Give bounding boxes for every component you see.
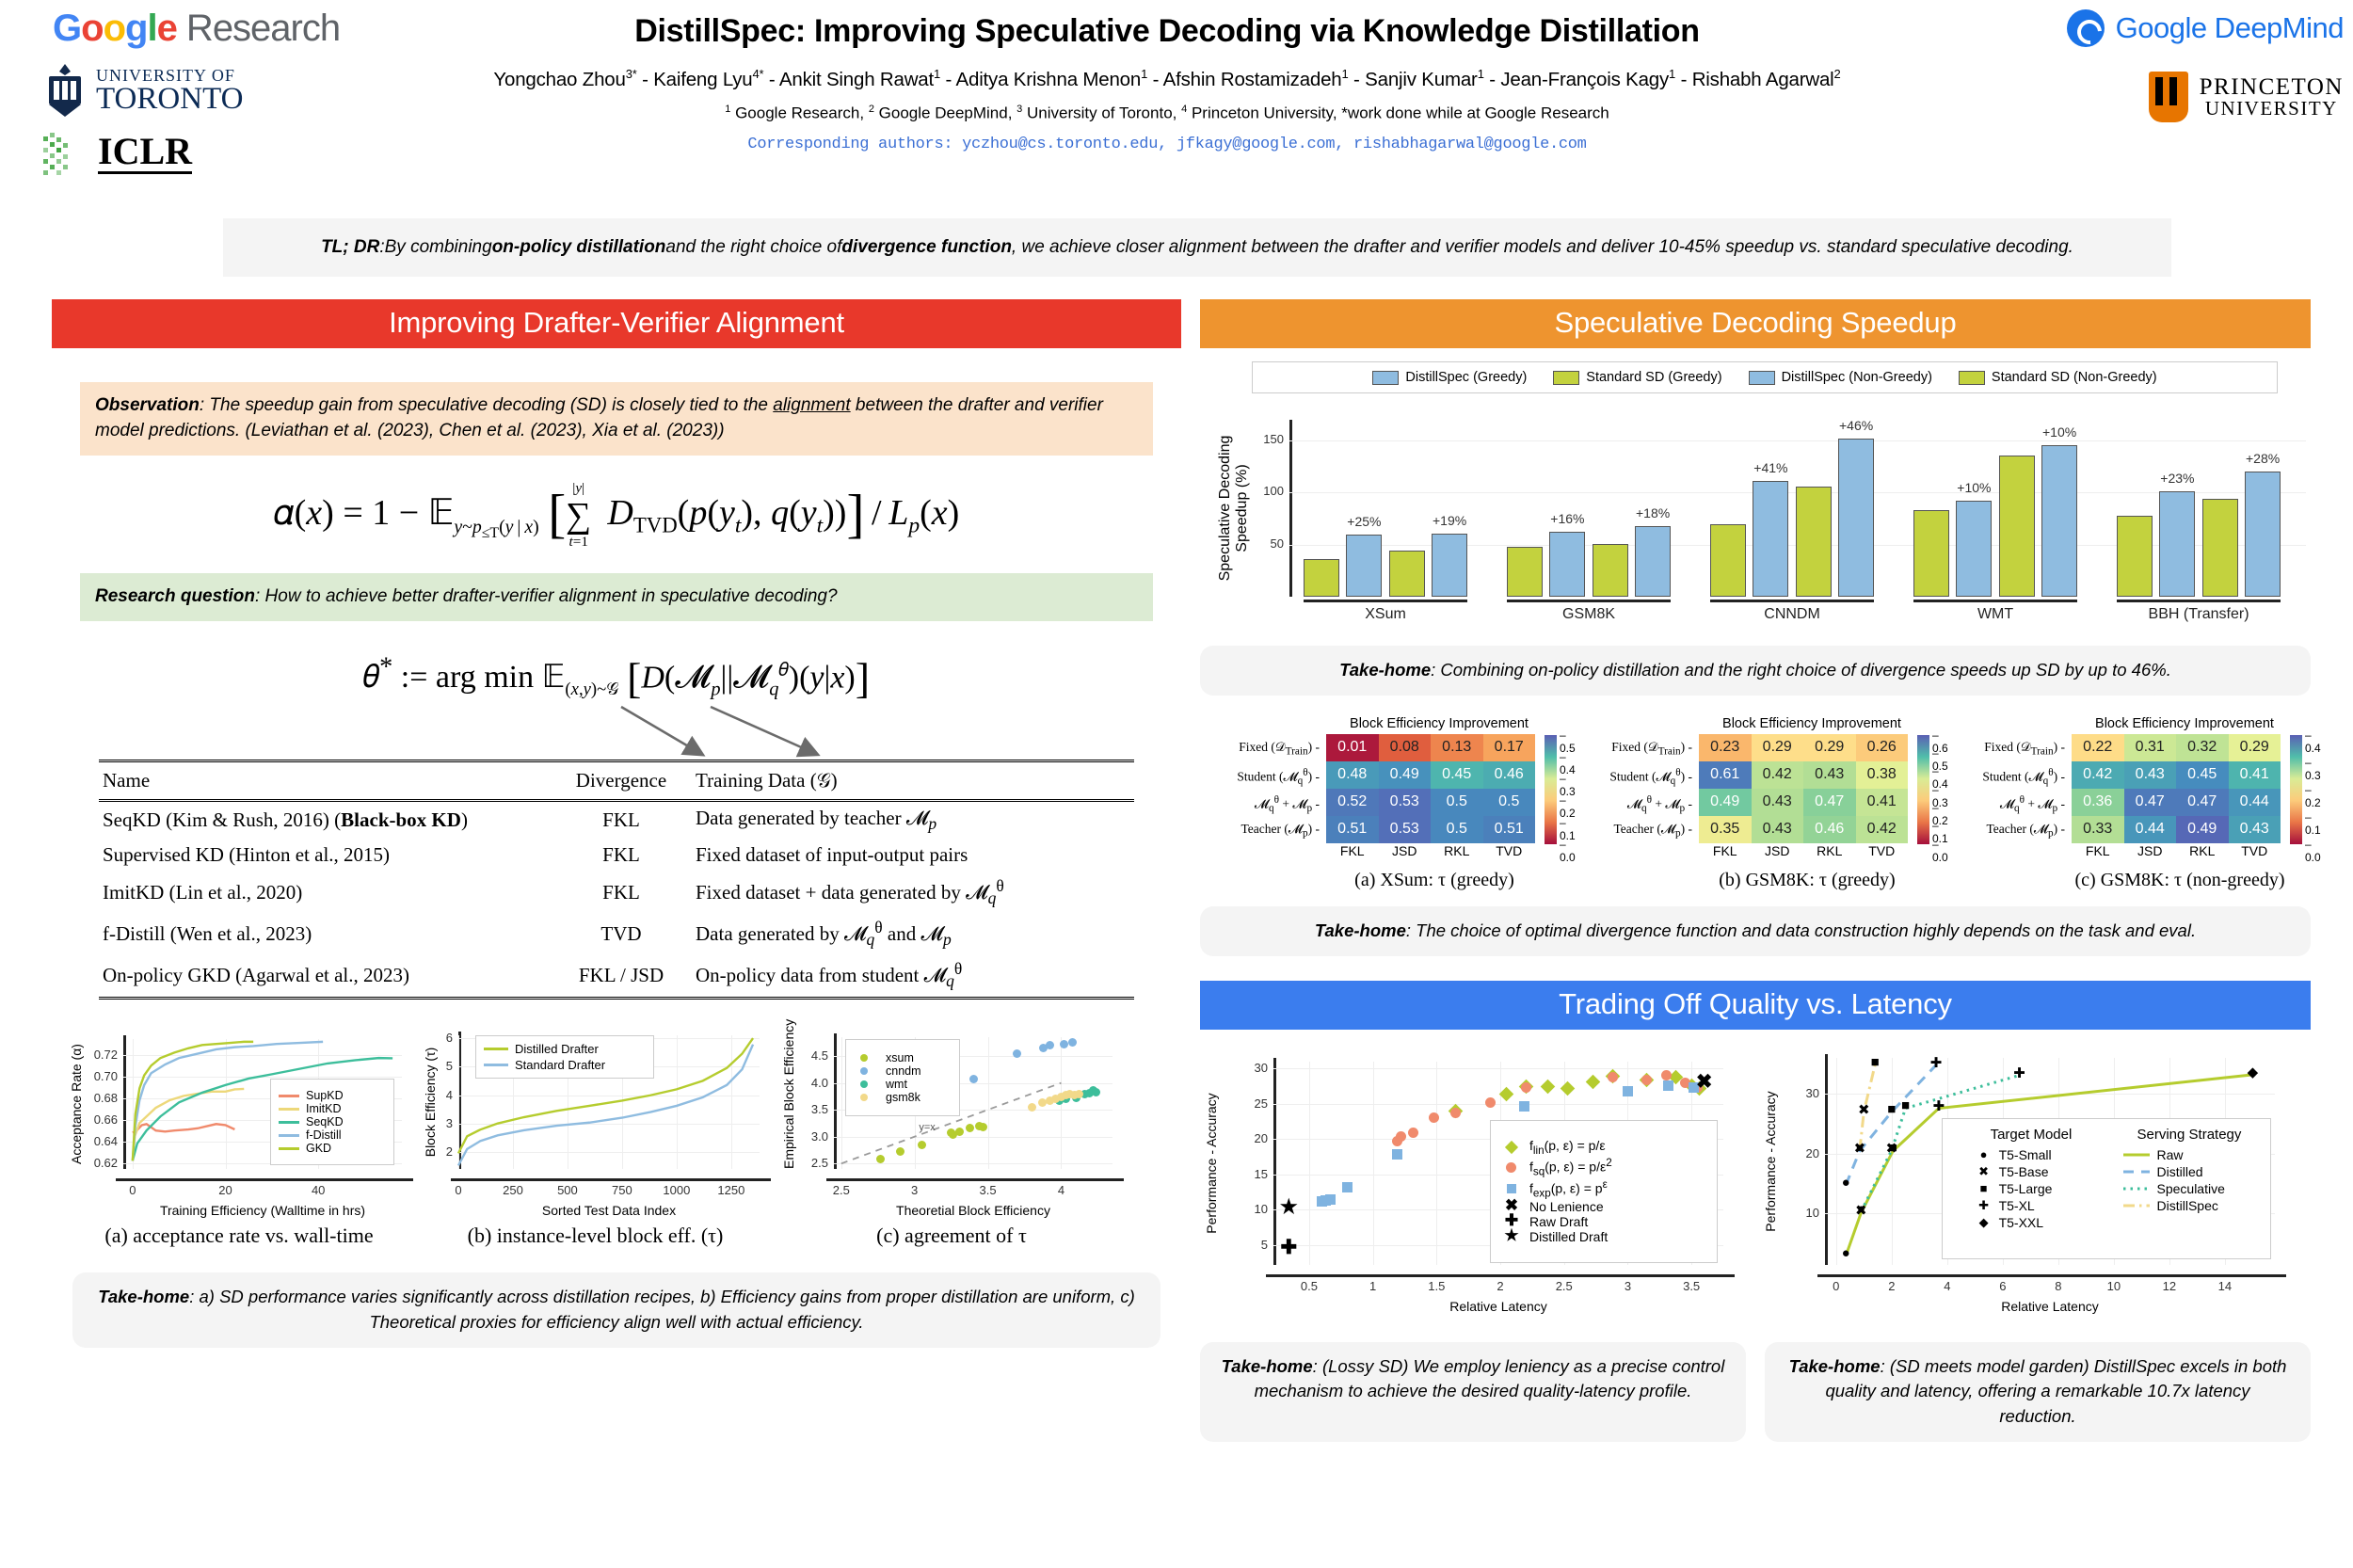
category-rule xyxy=(1913,600,2077,602)
colorbar-tick: – 0.3 xyxy=(2305,756,2326,782)
heatmap-col-label: FKL xyxy=(2072,843,2124,858)
y-tick: 15 xyxy=(1230,1167,1268,1181)
gridline xyxy=(1309,1062,1310,1265)
bar-1-0 xyxy=(1507,547,1543,597)
legend-item-1: Standard SD (Greedy) xyxy=(1553,370,1721,385)
legend-item-strategy-1: Distilled xyxy=(2122,1164,2238,1179)
heatmap-cell: 0.46 xyxy=(1803,816,1856,843)
data-point xyxy=(979,1123,987,1131)
gridline xyxy=(1273,1068,1723,1069)
legend-item-2: DistillSpec (Non-Greedy) xyxy=(1749,370,1932,385)
data-point: ● xyxy=(1852,1201,1869,1217)
legend-label: T5-XL xyxy=(1999,1198,2035,1213)
legend-marker xyxy=(1500,1141,1523,1154)
x-tick: 0.5 xyxy=(1285,1279,1334,1293)
heatmap-row-label: 𝓜qθ + 𝓜p - xyxy=(2000,794,2072,814)
data-point xyxy=(1075,1090,1083,1098)
legend-swatch xyxy=(1749,371,1775,385)
right-column: Speculative Decoding Speedup DistillSpec… xyxy=(1200,299,2311,1442)
observation-callout: Observation: The speedup gain from specu… xyxy=(80,382,1153,456)
tradeoff-charts-row: 510152025300.511.522.533.5Relative Laten… xyxy=(1200,1047,2311,1329)
cell-name: f-Distill (Wen et al., 2023) xyxy=(99,913,551,954)
heatmap-cell: 0.01 xyxy=(1326,734,1379,761)
heatmap-cell: 0.08 xyxy=(1379,734,1432,761)
colorbar-tick: – 0.0 xyxy=(1932,838,1953,864)
legend-label: cnndm xyxy=(886,1064,921,1078)
bar-2-1 xyxy=(1753,481,1788,597)
research-question-callout: Research question: How to achieve better… xyxy=(80,573,1153,621)
colorbar-tick: – 0.0 xyxy=(2305,838,2326,864)
heatmap-cell: 0.31 xyxy=(2124,734,2177,761)
category-rule xyxy=(1304,600,1467,602)
data-point xyxy=(969,1075,978,1083)
data-point xyxy=(1060,1040,1068,1048)
heatmap-cell: 0.49 xyxy=(1379,761,1432,789)
bar-3-3 xyxy=(2041,445,2077,597)
heatmap-col-label: TVD xyxy=(1856,843,1909,858)
tldr-banner: TL; DR: By combining on-policy distillat… xyxy=(223,218,2171,277)
heatmap-title: Block Efficiency Improvement xyxy=(1298,716,1580,731)
legend-label: SeqKD xyxy=(306,1115,344,1128)
cell-divergence: TVD xyxy=(551,913,692,954)
heatmap-cell: 0.22 xyxy=(2072,734,2124,761)
heatmap-cell: 0.42 xyxy=(1856,816,1909,843)
heatmap-cell: 0.29 xyxy=(1752,734,1804,761)
legend-item-0: Distilled Drafter xyxy=(484,1042,599,1056)
left-charts-row: 0.620.640.660.680.700.7202040Training Ef… xyxy=(52,1028,1181,1248)
table-row: Supervised KD (Hinton et al., 2015) FKL … xyxy=(99,839,1134,872)
heatmap-wrapper-2: Block Efficiency Improvement0.22Fixed (𝒟… xyxy=(1959,716,2326,891)
bar-0-0 xyxy=(1304,559,1339,597)
data-point xyxy=(1540,1080,1555,1095)
legend-glyph: ◆ xyxy=(1976,1215,1993,1230)
bar-0-2 xyxy=(1389,551,1425,597)
category-label: WMT xyxy=(1895,606,2096,623)
legend-label: Distilled Draft xyxy=(1529,1229,1608,1244)
heatmap-cell: 0.47 xyxy=(1803,789,1856,816)
takehome-speedup: Take-home: Combining on-policy distillat… xyxy=(1200,646,2311,696)
legend-item-1: Standard Drafter xyxy=(484,1058,605,1072)
bar-4-0 xyxy=(2117,516,2153,597)
legend-item-model-1: ✖T5-Base xyxy=(1976,1164,2069,1179)
heatmap-gsm8k-nongreedy: Block Efficiency Improvement0.22Fixed (𝒟… xyxy=(1959,716,2326,891)
toronto-crest-icon xyxy=(43,63,87,118)
heatmap-cell: 0.5 xyxy=(1431,816,1483,843)
heatmap-col-label: RKL xyxy=(1431,843,1483,858)
legend-label: Standard Drafter xyxy=(515,1058,605,1072)
category-rule xyxy=(1710,600,1874,602)
data-point xyxy=(1623,1086,1633,1096)
legend-label: Standard SD (Greedy) xyxy=(1586,370,1721,385)
bar-delta-label: +41% xyxy=(1746,460,1795,475)
bar-4-3 xyxy=(2245,472,2281,597)
table-row: SeqKD (Kim & Rush, 2016) (Black-box KD) … xyxy=(99,800,1134,839)
data-point: ★ xyxy=(1278,1201,1299,1214)
legend-swatch xyxy=(1959,371,1985,385)
bar-chart-legend: DistillSpec (Greedy)Standard SD (Greedy)… xyxy=(1252,361,2278,393)
data-point: ✖ xyxy=(1883,1140,1900,1157)
y-tick: 150 xyxy=(1250,432,1284,446)
data-point: ■ xyxy=(1897,1097,1914,1113)
gridline xyxy=(1289,440,2306,441)
heatmap-cell: 0.51 xyxy=(1326,816,1379,843)
caption-b: (b) instance-level block eff. (τ) xyxy=(419,1224,772,1248)
legend-label: Standard SD (Non-Greedy) xyxy=(1992,370,2157,385)
legend-label: T5-XXL xyxy=(1999,1215,2043,1230)
heatmap-cell: 0.43 xyxy=(1752,816,1804,843)
legend-item-1: fsq(p, ε) = p/ε2 xyxy=(1500,1157,1612,1177)
distillation-methods-table: Name Divergence Training Data (𝒢) SeqKD … xyxy=(99,760,1134,1000)
heatmap-cell: 0.42 xyxy=(1752,761,1804,789)
bar-3-0 xyxy=(1913,510,1949,597)
deepmind-logo-text: Google DeepMind xyxy=(2116,11,2344,45)
bar-2-0 xyxy=(1710,524,1746,597)
legend-item-4: GKD xyxy=(279,1142,331,1155)
heatmap-cell: 0.47 xyxy=(2124,789,2177,816)
data-point xyxy=(1408,1128,1418,1138)
heatmap-cell: 0.29 xyxy=(1803,734,1856,761)
bar-3-1 xyxy=(1956,501,1992,597)
heatmap-colorbar xyxy=(1545,735,1557,844)
heatmap-cell: 0.61 xyxy=(1699,761,1752,789)
legend-circle xyxy=(1506,1162,1516,1173)
heatmap-row-label: Teacher (𝓜p) - xyxy=(1986,822,2072,840)
deepmind-spiral-icon xyxy=(2067,9,2105,47)
data-point: ✖ xyxy=(1855,1101,1872,1118)
heatmap-wrapper-1: Block Efficiency Improvement0.23Fixed (𝒟… xyxy=(1586,716,1953,891)
heatmap-row-label: Fixed (𝒟Train) - xyxy=(1239,740,1326,758)
chart-acceptance-rate: 0.620.640.660.680.700.7202040Training Ef… xyxy=(65,1028,413,1248)
bar-delta-label: +23% xyxy=(2153,471,2201,486)
legend-line xyxy=(484,1048,508,1050)
y-axis xyxy=(1289,420,1292,597)
heatmap-cell: 0.17 xyxy=(1483,734,1536,761)
legend-item-0: flin(p, ε) = p/ε xyxy=(1500,1138,1606,1157)
category-label: XSum xyxy=(1285,606,1486,623)
heatmap-cell: 0.53 xyxy=(1379,789,1432,816)
x-tick: 2.5 xyxy=(1540,1279,1589,1293)
legend-item-1: cnndm xyxy=(855,1064,921,1078)
legend-item-0: xsum xyxy=(855,1051,914,1064)
data-point: ● xyxy=(1851,1140,1868,1156)
data-point xyxy=(1499,1086,1514,1101)
colorbar-tick: – 0.4 xyxy=(2305,728,2326,755)
heatmap-grid: 0.23Fixed (𝒟Train) -0.290.290.260.61Stud… xyxy=(1699,734,1908,843)
takehome-lossy: Take-home: (Lossy SD) We employ leniency… xyxy=(1200,1342,1746,1442)
legend-item-3: gsm8k xyxy=(855,1091,920,1104)
heatmap-cell: 0.45 xyxy=(1431,761,1483,789)
legend-label: Raw Draft xyxy=(1529,1214,1588,1229)
legend-label: f-Distill xyxy=(306,1128,342,1142)
legend-item-model-0: ●T5-Small xyxy=(1976,1147,2069,1162)
legend-item-strategy-3: DistillSpec xyxy=(2122,1198,2238,1213)
y-axis-label: Performance - Accuracy xyxy=(1204,1062,1219,1265)
iclr-logo-text: ICLR xyxy=(98,133,192,174)
category-rule xyxy=(2117,600,2281,602)
heatmap-colorbar xyxy=(2290,735,2302,844)
chart-b-legend: Distilled DrafterStandard Drafter xyxy=(475,1035,654,1079)
cell-training-data: On-policy data from student 𝓜qθ xyxy=(692,954,1134,998)
legend-label: T5-Large xyxy=(1999,1181,2053,1196)
heatmap-grid: 0.01Fixed (𝒟Train) -0.080.130.170.48Stud… xyxy=(1326,734,1535,843)
x-axis-label: Relative Latency xyxy=(1273,1299,1723,1314)
bar-delta-label: +25% xyxy=(1339,514,1388,529)
section-header-tradeoff: Trading Off Quality vs. Latency xyxy=(1200,981,2311,1030)
bar-delta-label: +18% xyxy=(1628,505,1677,520)
cell-training-data: Fixed dataset of input-output pairs xyxy=(692,839,1134,872)
bar-1-3 xyxy=(1635,526,1671,597)
legend-item-5: ★Distilled Draft xyxy=(1500,1229,1608,1244)
bar-delta-label: +10% xyxy=(2035,424,2084,440)
legend-glyph: ● xyxy=(1976,1147,1993,1161)
legend-label: gsm8k xyxy=(886,1091,920,1104)
heatmap-cell: 0.49 xyxy=(1699,789,1752,816)
data-point xyxy=(896,1147,904,1156)
legend-label: SupKD xyxy=(306,1089,344,1102)
category-label: GSM8K xyxy=(1488,606,1689,623)
data-point xyxy=(1342,1182,1353,1192)
heatmap-cell: 0.5 xyxy=(1483,789,1536,816)
legend-label: T5-Small xyxy=(1999,1147,2052,1162)
heatmap-cell: 0.5 xyxy=(1431,789,1483,816)
legend-label: Distilled xyxy=(2157,1164,2203,1179)
legend-label: DistillSpec xyxy=(2157,1198,2218,1213)
speedup-bar-chart: DistillSpec (Greedy)Standard SD (Greedy)… xyxy=(1200,361,2311,634)
data-point xyxy=(918,1141,926,1149)
heatmap-cell: 0.45 xyxy=(2176,761,2229,789)
heatmap-cell: 0.26 xyxy=(1856,734,1909,761)
cell-training-data: Fixed dataset + data generated by 𝓜qθ xyxy=(692,872,1134,913)
legend-swatch xyxy=(1372,371,1399,385)
legend-label: xsum xyxy=(886,1051,914,1064)
takehome-heatmaps: Take-home: The choice of optimal diverge… xyxy=(1200,906,2311,956)
data-point xyxy=(1519,1101,1529,1112)
data-point: ✚ xyxy=(2011,1064,2028,1081)
chart-agreement-tau: 2.53.03.54.04.52.533.54Theoretial Block … xyxy=(777,1028,1126,1248)
heatmap-cell: 0.43 xyxy=(1803,761,1856,789)
y-equals-x-annotation: y=x xyxy=(919,1122,935,1133)
heatmap-row-label: Fixed (𝒟Train) - xyxy=(1984,740,2072,758)
cell-name: ImitKD (Lin et al., 2020) xyxy=(99,872,551,913)
bar-delta-label: +19% xyxy=(1425,513,1474,528)
legend-label: ImitKD xyxy=(306,1102,342,1115)
legend-dot xyxy=(860,1080,868,1088)
legend-marker xyxy=(1500,1182,1523,1195)
legend-label: fexp(p, ε) = pε xyxy=(1529,1178,1608,1199)
heatmap-cell: 0.44 xyxy=(2124,816,2177,843)
heatmap-cell: 0.13 xyxy=(1431,734,1483,761)
heatmap-gsm8k-greedy: Block Efficiency Improvement0.23Fixed (𝒟… xyxy=(1586,716,1953,891)
legend-dot xyxy=(860,1067,868,1075)
princeton-shield-icon xyxy=(2149,72,2188,122)
data-point: ● xyxy=(1837,1175,1854,1191)
legend-line xyxy=(279,1095,299,1097)
bar-2-2 xyxy=(1796,487,1832,597)
legend-label: GKD xyxy=(306,1142,331,1155)
data-point xyxy=(1561,1080,1576,1096)
bar-delta-label: +16% xyxy=(1543,511,1592,526)
legend-line xyxy=(279,1147,299,1150)
caption-c: (c) agreement of τ xyxy=(777,1224,1126,1248)
heatmap-cell: 0.41 xyxy=(1856,789,1909,816)
legend-label: Distilled Drafter xyxy=(515,1042,599,1056)
heatmap-col-label: TVD xyxy=(1483,843,1536,858)
th-name: Name xyxy=(99,760,551,800)
gridline xyxy=(1273,1104,1723,1105)
x-tick: 2 xyxy=(1476,1279,1525,1293)
legend-item-2: wmt xyxy=(855,1078,907,1091)
bar-0-3 xyxy=(1432,534,1467,597)
heatmap-cell: 0.42 xyxy=(2072,761,2124,789)
heatmap-cell: 0.53 xyxy=(1379,816,1432,843)
heatmap-title: Block Efficiency Improvement xyxy=(2043,716,2326,731)
author-list: Yongchao Zhou3* - Kaifeng Lyu4* - Ankit … xyxy=(282,67,2052,91)
cell-divergence: FKL xyxy=(551,872,692,913)
cell-name: Supervised KD (Hinton et al., 2015) xyxy=(99,839,551,872)
heatmaps-row: Block Efficiency Improvement0.01Fixed (𝒟… xyxy=(1200,716,2311,891)
heatmap-cell: 0.38 xyxy=(1856,761,1909,789)
heatmap-caption: (b) GSM8K: τ (greedy) xyxy=(1661,870,1953,891)
heatmap-caption: (a) XSum: τ (greedy) xyxy=(1289,870,1580,891)
data-point xyxy=(1429,1112,1439,1123)
heatmap-colorbar xyxy=(1917,735,1929,844)
legend-title-serving: Serving Strategy xyxy=(2137,1127,2242,1143)
legend-swatch xyxy=(1553,371,1579,385)
colorbar-tick: – 0.0 xyxy=(1560,838,1580,864)
heatmap-cell: 0.48 xyxy=(1326,761,1379,789)
legend-line xyxy=(279,1134,299,1137)
heatmap-xsum-greedy: Block Efficiency Improvement0.01Fixed (𝒟… xyxy=(1213,716,1580,891)
bar-1-2 xyxy=(1593,544,1628,597)
heatmap-caption: (c) GSM8K: τ (non-greedy) xyxy=(2034,870,2326,891)
y-tick: 10 xyxy=(1230,1202,1268,1216)
heatmap-cell: 0.23 xyxy=(1699,734,1752,761)
bar-delta-label: +46% xyxy=(1832,418,1881,433)
data-point: ✚ xyxy=(1930,1097,1947,1114)
chart-a-legend: SupKDImitKDSeqKDf-DistillGKD xyxy=(270,1079,394,1165)
table-row: On-policy GKD (Agarwal et al., 2023) FKL… xyxy=(99,954,1134,998)
heatmap-row-label: Student (𝓜qθ) - xyxy=(1982,767,2072,787)
data-point xyxy=(1641,1075,1652,1085)
legend-marker: ★ xyxy=(1500,1230,1523,1243)
legend-item-3: Standard SD (Non-Greedy) xyxy=(1959,370,2157,385)
legend-target-model-col: Target Model●T5-Small✖T5-Base■T5-Large✚T… xyxy=(1972,1127,2073,1231)
th-training-data: Training Data (𝒢) xyxy=(692,760,1134,800)
y-tick: 25 xyxy=(1230,1096,1268,1111)
chart-lossy-sd: 510152025300.511.522.533.5Relative Laten… xyxy=(1200,1047,1746,1329)
legend-label: Raw xyxy=(2157,1147,2184,1162)
legend-item-0: SupKD xyxy=(279,1089,344,1102)
legend-label: DistillSpec (Non-Greedy) xyxy=(1782,370,1932,385)
legend-item-1: ImitKD xyxy=(279,1102,342,1115)
cell-divergence: FKL xyxy=(551,839,692,872)
data-point xyxy=(1450,1108,1461,1118)
heatmap-col-label: FKL xyxy=(1699,843,1752,858)
left-column: Improving Drafter-Verifier Alignment Obs… xyxy=(52,299,1181,1348)
princeton-logo-line2: UNIVERSITY xyxy=(2200,99,2344,119)
y-axis xyxy=(1273,1058,1276,1265)
bar-delta-label: +10% xyxy=(1949,480,1998,495)
th-divergence: Divergence xyxy=(551,760,692,800)
legend-label: Speculative xyxy=(2157,1181,2225,1196)
data-point xyxy=(1046,1041,1054,1049)
bar-4-1 xyxy=(2159,491,2195,597)
heatmap-cell: 0.52 xyxy=(1326,789,1379,816)
data-point xyxy=(1586,1075,1601,1090)
legend-line xyxy=(279,1121,299,1124)
corresponding-authors: Corresponding authors: yczhou@cs.toronto… xyxy=(282,136,2052,153)
takehome-left: Take-home: a) SD performance varies sign… xyxy=(72,1272,1160,1348)
data-point: ✚ xyxy=(1928,1054,1945,1071)
x-tick: 1.5 xyxy=(1412,1279,1461,1293)
table-row: f-Distill (Wen et al., 2023) TVD Data ge… xyxy=(99,913,1134,954)
legend-dot xyxy=(860,1054,868,1062)
legend-label: DistillSpec (Greedy) xyxy=(1405,370,1527,385)
heatmap-grid: 0.22Fixed (𝒟Train) -0.310.320.290.42Stud… xyxy=(2072,734,2281,843)
data-point xyxy=(1663,1080,1673,1091)
heatmap-cell: 0.49 xyxy=(2176,816,2229,843)
legend-item-3: f-Distill xyxy=(279,1128,342,1142)
legend-item-strategy-0: Raw xyxy=(2122,1147,2238,1162)
legend-label: wmt xyxy=(886,1078,907,1091)
colorbar-tick: – 0.2 xyxy=(2305,783,2326,809)
legend-item-model-3: ✚T5-XL xyxy=(1976,1198,2069,1213)
legend-diamond xyxy=(1505,1141,1518,1154)
heatmap-row-label: 𝓜qθ + 𝓜p - xyxy=(1627,794,1699,814)
data-point xyxy=(1661,1070,1672,1080)
bar-delta-label: +28% xyxy=(2238,451,2287,466)
heatmap-title: Block Efficiency Improvement xyxy=(1671,716,1953,731)
iclr-mark-icon xyxy=(40,129,88,178)
cell-divergence: FKL xyxy=(551,800,692,839)
heatmap-cell: 0.32 xyxy=(2176,734,2229,761)
toronto-logo-line1: UNIVERSITY OF xyxy=(96,67,243,84)
legend-glyph: ✖ xyxy=(1976,1164,1993,1179)
acceptance-rate-equation: 𝛼(x) = 1 − 𝔼y~p≤T(y | x) [|y|∑t=1DTVD(p(… xyxy=(52,484,1181,545)
category-label: CNNDM xyxy=(1691,606,1893,623)
heatmap-row-label: Teacher (𝓜p) - xyxy=(1241,822,1326,840)
chart-model-garden: 10203002468101214Relative LatencyPerform… xyxy=(1759,1047,2305,1329)
y-tick: 100 xyxy=(1250,484,1284,498)
heatmap-col-labels: FKLJSDRKLTVD xyxy=(1699,843,1908,858)
caption-a: (a) acceptance rate vs. wall-time xyxy=(65,1224,413,1248)
gridline xyxy=(1373,1062,1374,1265)
heatmap-col-label: JSD xyxy=(2124,843,2177,858)
legend-item-model-4: ◆T5-XXL xyxy=(1976,1215,2069,1230)
google-deepmind-logo: Google DeepMind xyxy=(2067,9,2344,47)
category-rule xyxy=(1507,600,1671,602)
table-header-row: Name Divergence Training Data (𝒢) xyxy=(99,760,1134,800)
heatmap-row-label: Student (𝓜qθ) - xyxy=(1609,767,1699,787)
chart-c-legend: xsumcnndmwmtgsm8k xyxy=(845,1039,960,1116)
data-point xyxy=(1028,1103,1036,1112)
takehome-row-bottom: Take-home: (Lossy SD) We employ leniency… xyxy=(1200,1342,2311,1442)
toronto-logo-line2: TORONTO xyxy=(96,84,243,115)
heatmap-cell: 0.29 xyxy=(2229,734,2281,761)
legend-label: fsq(p, ε) = p/ε2 xyxy=(1529,1157,1612,1177)
heatmap-cell: 0.35 xyxy=(1699,816,1752,843)
heatmap-cell: 0.33 xyxy=(2072,816,2124,843)
poster-header: Google Research UNIVERSITY OF TORONTO xyxy=(0,0,2353,216)
objective-equation: 𝜃* := arg min 𝔼(x,y)~𝒢 [D(𝓜p||𝓜q𝜃)(y|x)] xyxy=(52,653,1181,703)
data-point xyxy=(1608,1072,1618,1082)
legend-item-strategy-2: Speculative xyxy=(2122,1181,2238,1196)
equation-to-table-arrows xyxy=(52,716,1181,754)
legend-label: T5-Base xyxy=(1999,1164,2049,1179)
legend-glyph: ✚ xyxy=(1976,1198,1993,1213)
bar-1-1 xyxy=(1549,532,1585,597)
bar-4-2 xyxy=(2202,499,2238,597)
